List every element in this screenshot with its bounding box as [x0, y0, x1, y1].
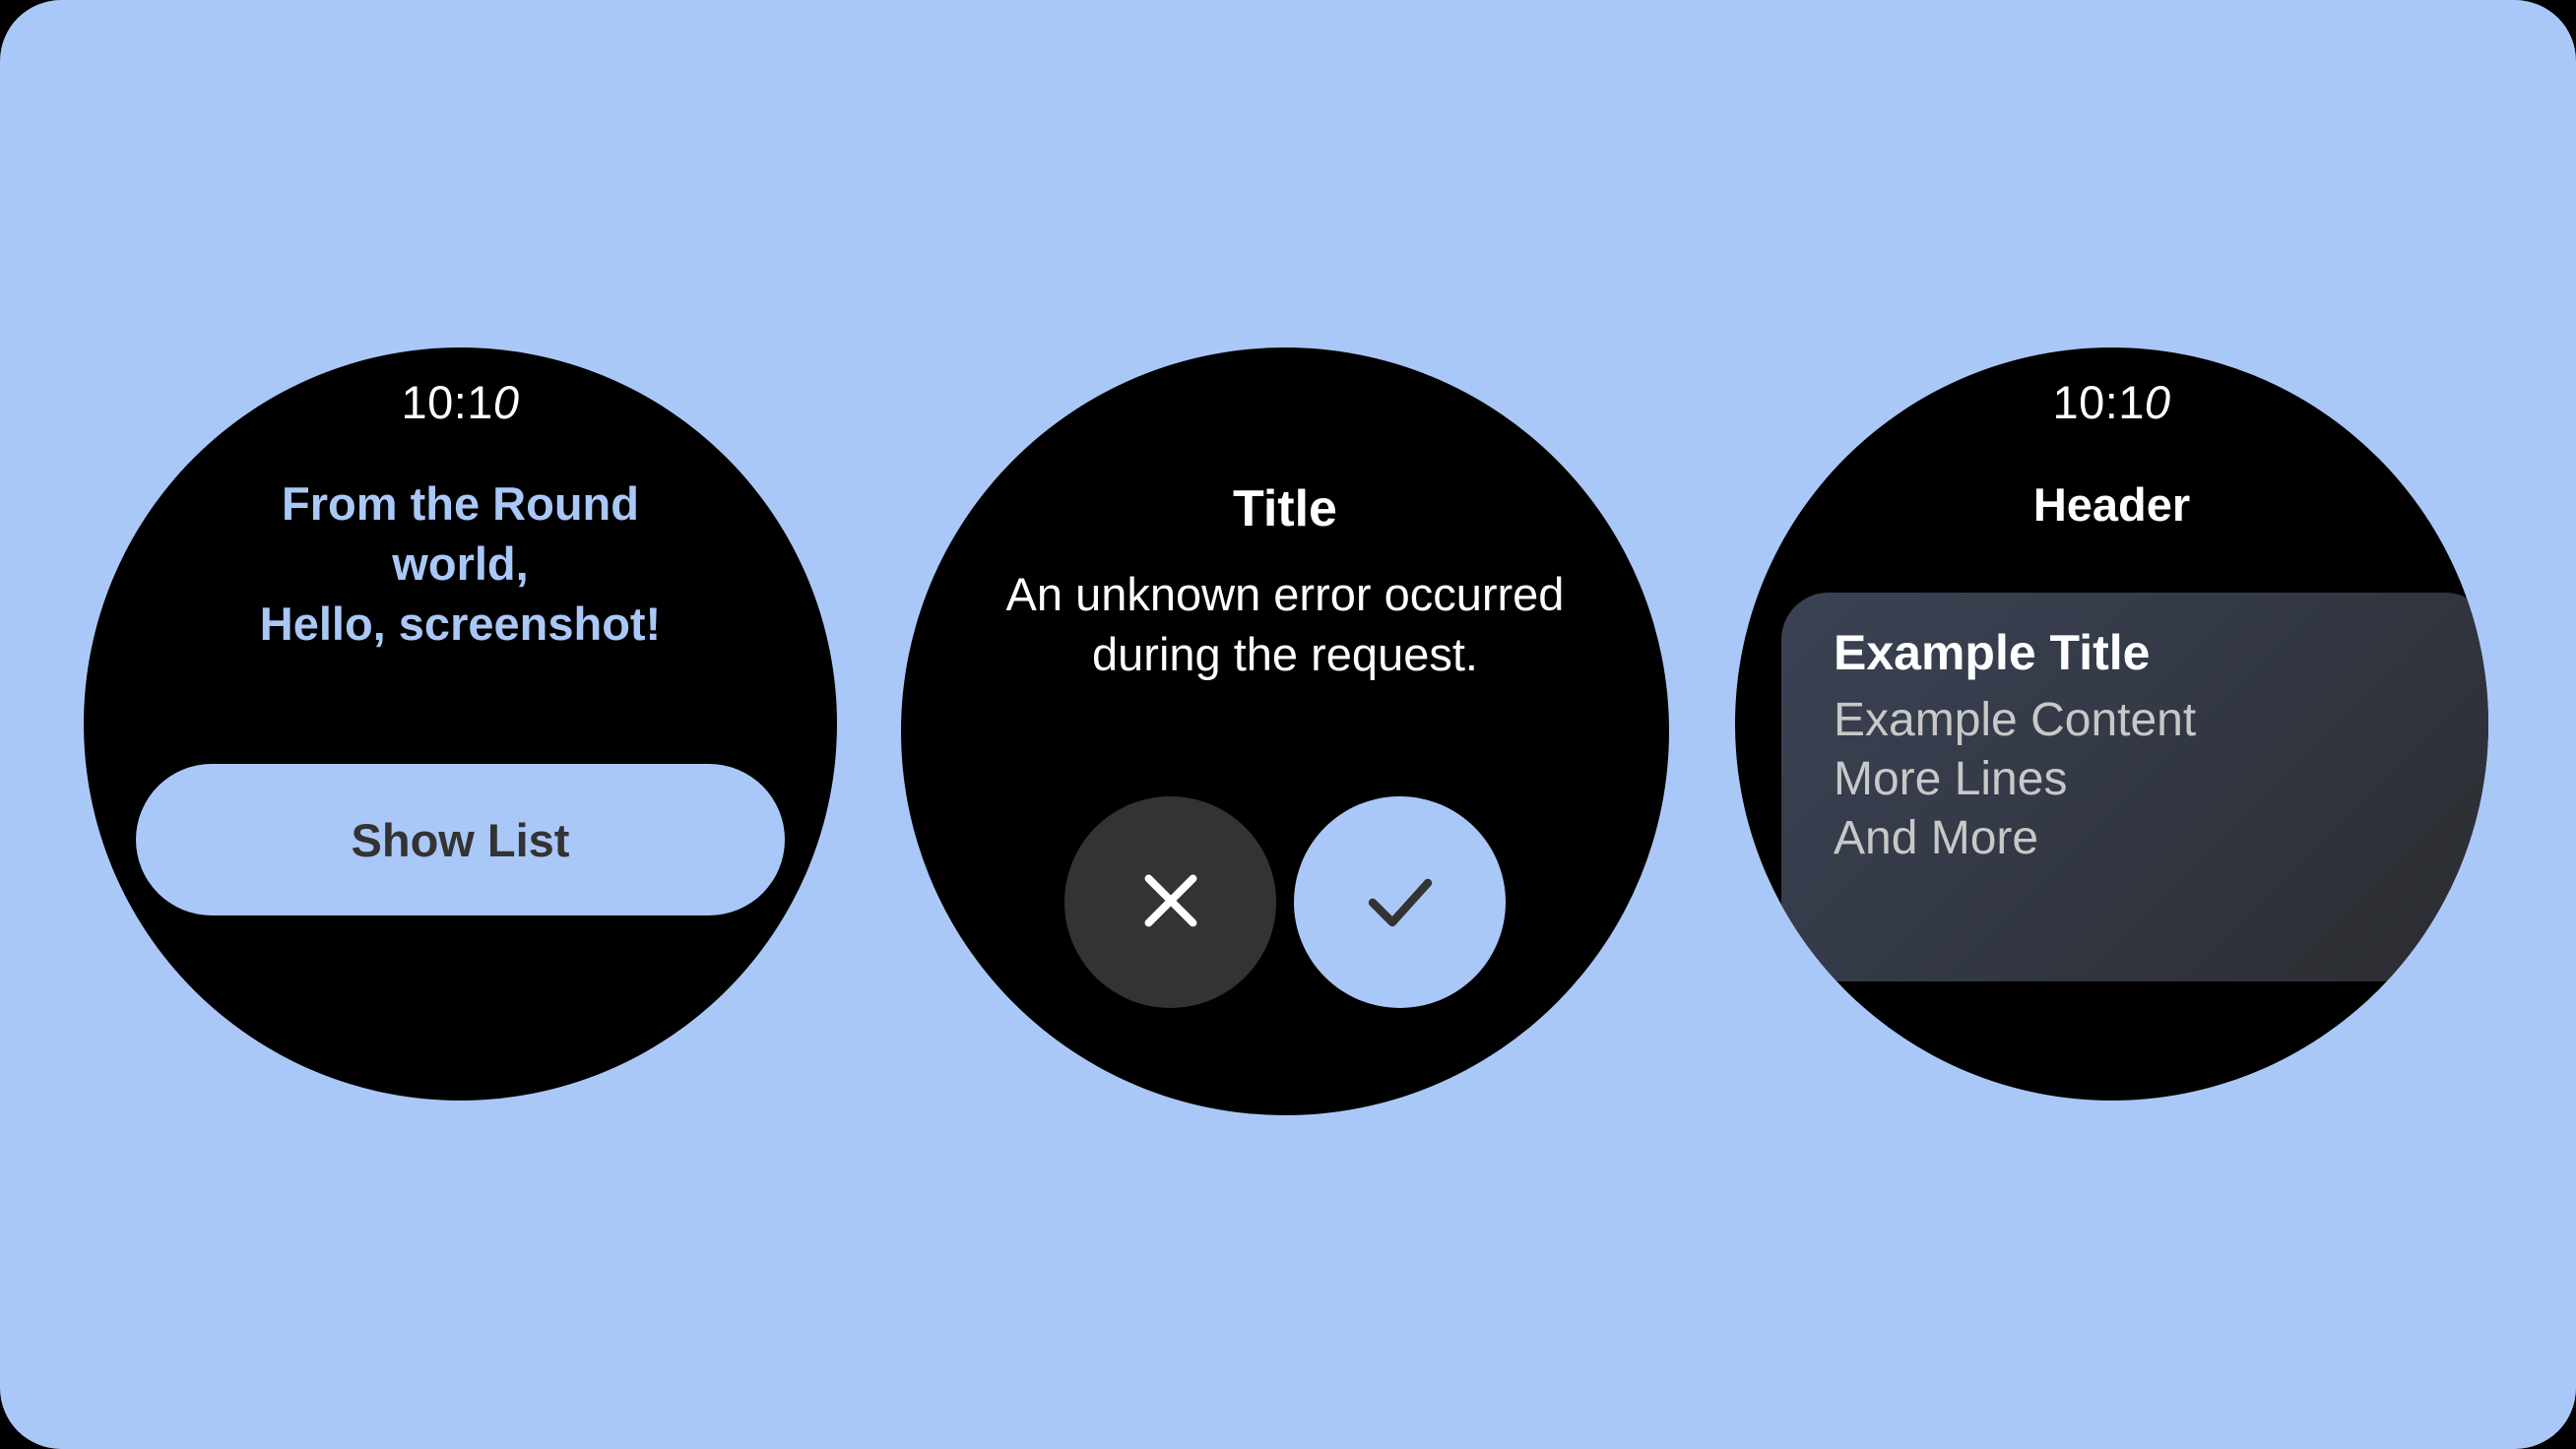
dismiss-button[interactable]: [1064, 796, 1276, 1008]
greeting-line-1: From the Round: [127, 473, 794, 534]
watch-round-card-list: 10:10 Header Example Title Example Conte…: [1735, 347, 2488, 1101]
dialog-message-line-2: during the request.: [919, 624, 1651, 684]
close-icon: [1127, 856, 1215, 948]
watch-round-dialog: Title An unknown error occurred during t…: [901, 347, 1669, 1115]
screenshot-canvas: 10:10 From the Round world, Hello, scree…: [0, 0, 2576, 1449]
status-bar-time-prefix: 10:1: [2052, 376, 2144, 428]
card-line-1: Example Content: [1834, 697, 2488, 744]
check-icon: [1353, 853, 1448, 951]
greeting-text: From the Round world, Hello, screenshot!: [127, 473, 794, 654]
status-bar-time-prefix: 10:1: [401, 376, 492, 428]
card-line-3: And More: [1834, 815, 2488, 862]
card-title: Example Title: [1834, 628, 2488, 677]
status-bar-time: 10:10: [84, 375, 837, 429]
dialog-actions: [901, 796, 1669, 1008]
header-label: Header: [1735, 477, 2488, 532]
card-footer-band: [1781, 981, 2488, 1005]
confirm-button[interactable]: [1294, 796, 1506, 1008]
watch-round-greeting: 10:10 From the Round world, Hello, scree…: [84, 347, 837, 1101]
status-bar-time: 10:10: [1735, 375, 2488, 429]
dialog-title: Title: [901, 479, 1669, 538]
dialog-message-line-1: An unknown error occurred: [919, 564, 1651, 624]
list-item[interactable]: Example Title Example Content More Lines…: [1781, 593, 2488, 981]
status-bar-time-suffix: 0: [2145, 376, 2171, 428]
dialog-message: An unknown error occurred during the req…: [919, 564, 1651, 684]
greeting-line-2: world,: [127, 534, 794, 594]
show-list-button[interactable]: Show List: [136, 764, 785, 915]
greeting-line-3: Hello, screenshot!: [127, 594, 794, 654]
status-bar-time-suffix: 0: [493, 376, 520, 428]
card-line-2: More Lines: [1834, 756, 2488, 803]
